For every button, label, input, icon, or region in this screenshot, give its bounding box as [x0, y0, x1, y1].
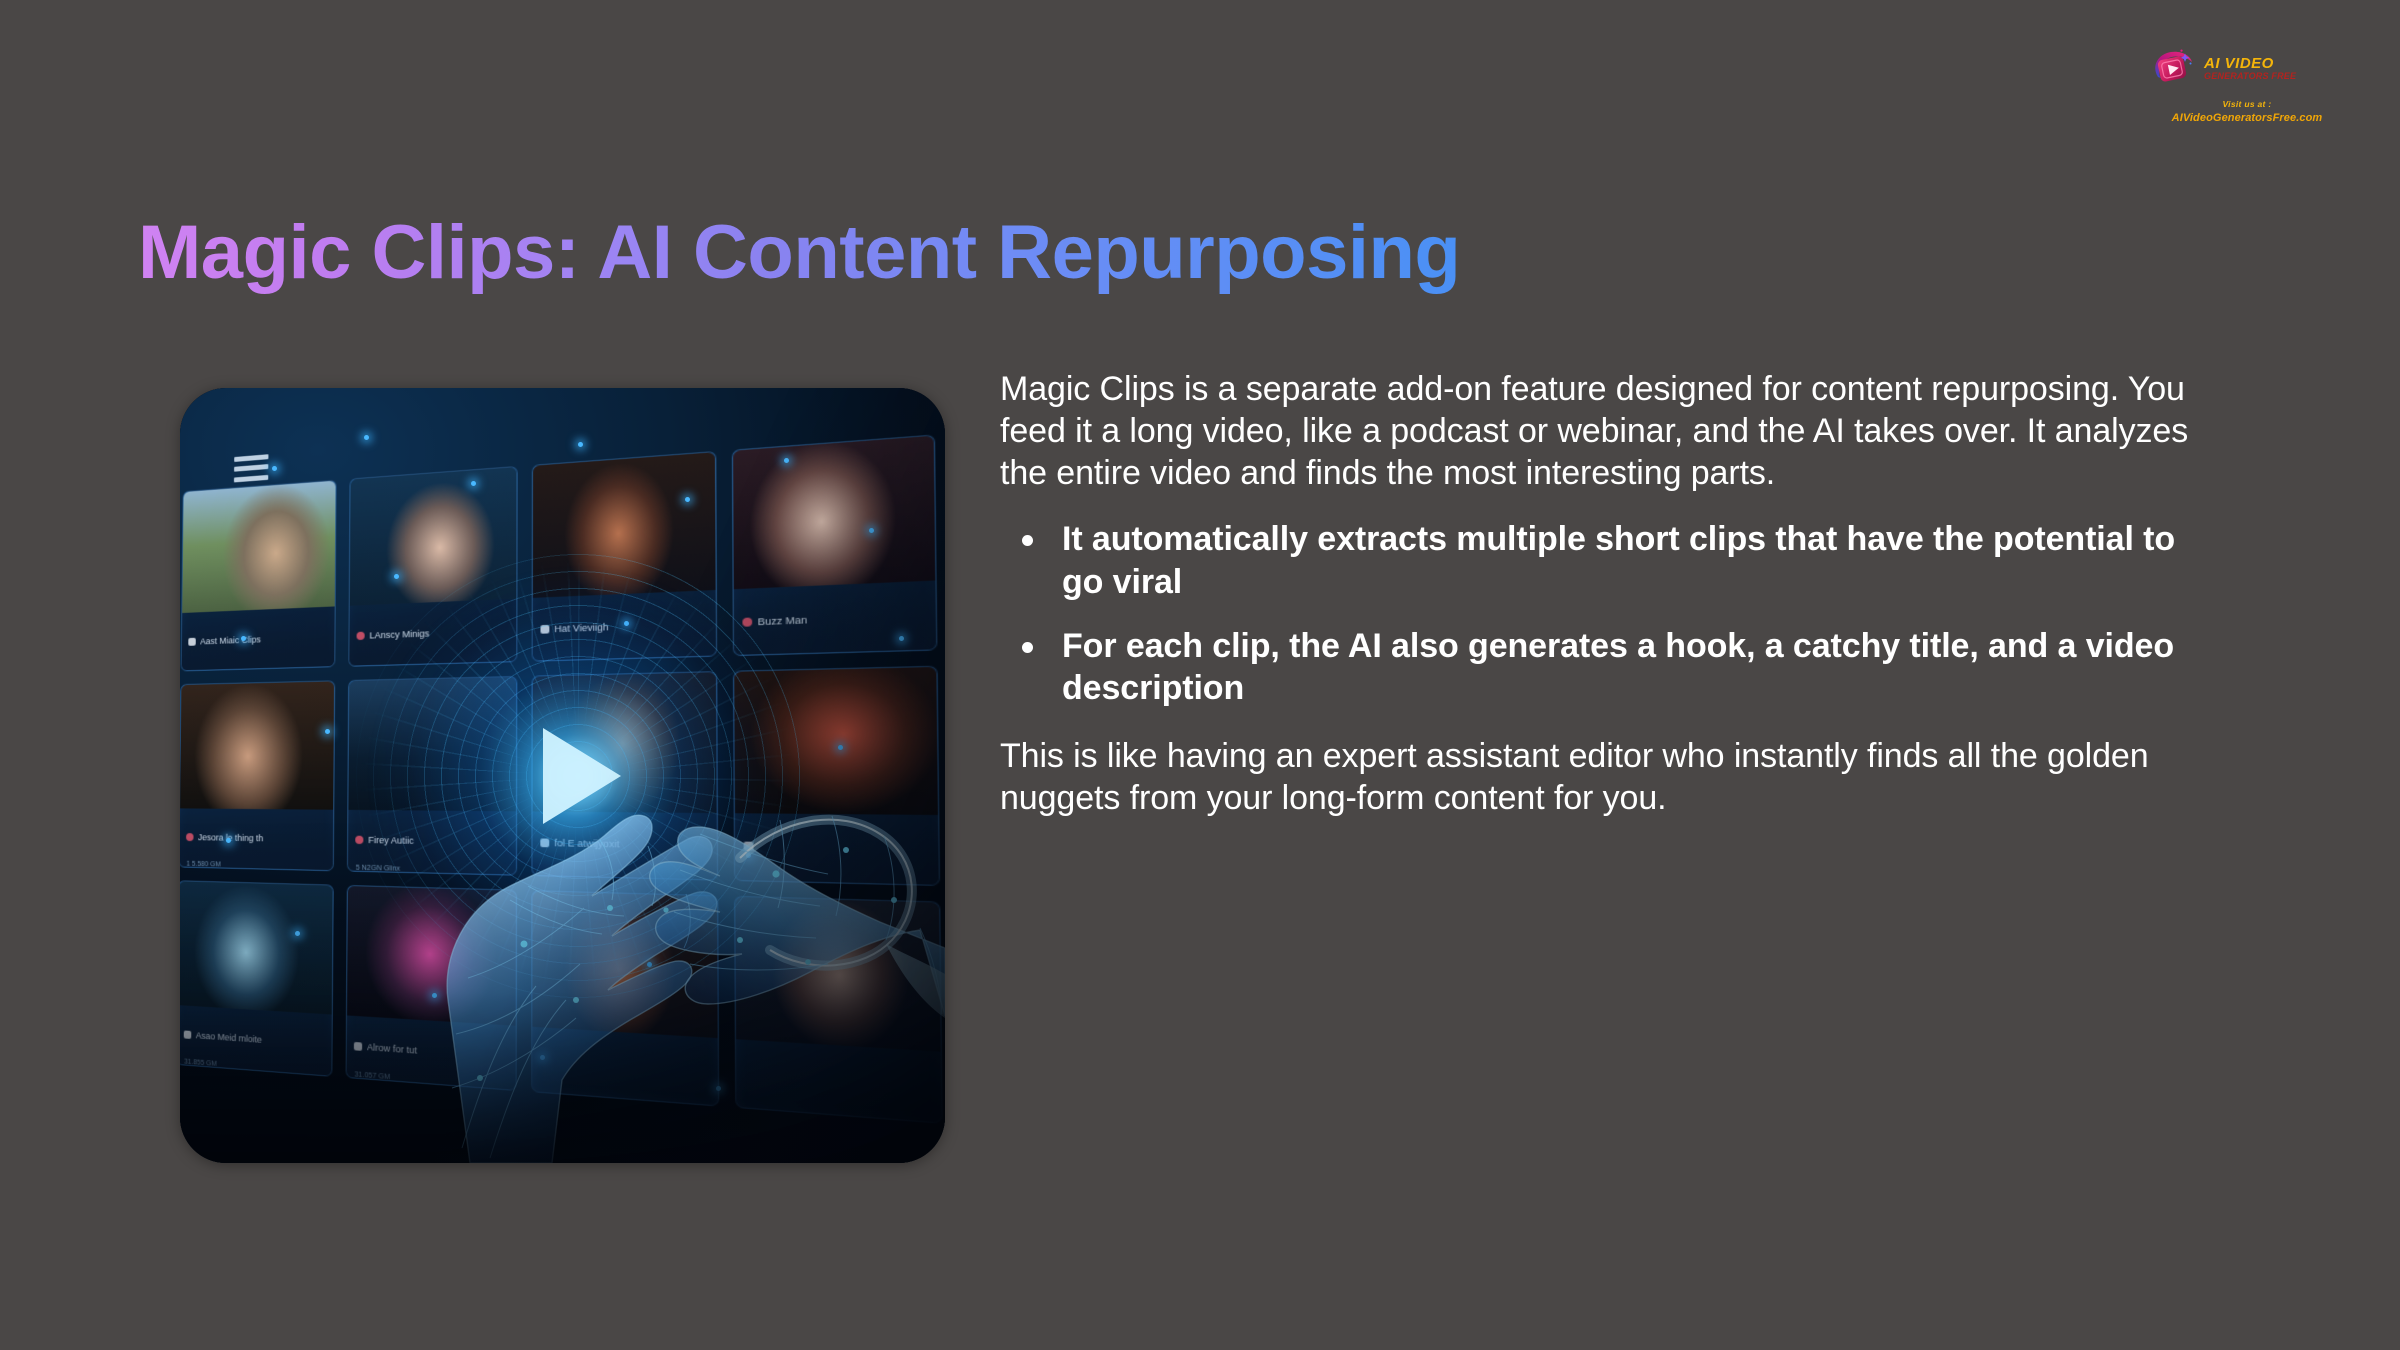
brand-watermark: AI VIDEO GENERATORS FREE Visit us at : A… — [2152, 48, 2342, 124]
intro-paragraph: Magic Clips is a separate add-on feature… — [1000, 368, 2210, 494]
brand-name-secondary: GENERATORS FREE — [2204, 72, 2296, 81]
list-item-text: It automatically extracts multiple short… — [1062, 520, 2175, 600]
wireframe-hands — [180, 388, 945, 1163]
content-column: Magic Clips is a separate add-on feature… — [1000, 368, 2210, 819]
feature-image: Aast Miaic Clips LAnscy Minigs — [180, 388, 945, 1163]
slide-canvas: AI VIDEO GENERATORS FREE Visit us at : A… — [0, 0, 2400, 1350]
brand-name-primary: AI VIDEO — [2204, 56, 2296, 71]
brand-wordmark: AI VIDEO GENERATORS FREE — [2204, 56, 2296, 81]
play-diamond-logo-icon — [2152, 48, 2198, 88]
list-item-text: For each clip, the AI also generates a h… — [1062, 627, 2174, 707]
brand-url: AIVideoGeneratorsFree.com — [2152, 112, 2342, 124]
bullet-dot-icon — [1022, 535, 1033, 546]
image-scene: Aast Miaic Clips LAnscy Minigs — [180, 388, 945, 1163]
page-title: Magic Clips: AI Content Repurposing — [138, 211, 1460, 295]
bullet-dot-icon — [1022, 642, 1033, 653]
list-item: For each clip, the AI also generates a h… — [1000, 625, 2210, 709]
closing-paragraph: This is like having an expert assistant … — [1000, 735, 2210, 819]
list-item: It automatically extracts multiple short… — [1000, 518, 2210, 602]
feature-bullet-list: It automatically extracts multiple short… — [1000, 518, 2210, 709]
brand-logo-row: AI VIDEO GENERATORS FREE — [2152, 48, 2342, 88]
brand-visit-label: Visit us at : — [2152, 99, 2342, 109]
